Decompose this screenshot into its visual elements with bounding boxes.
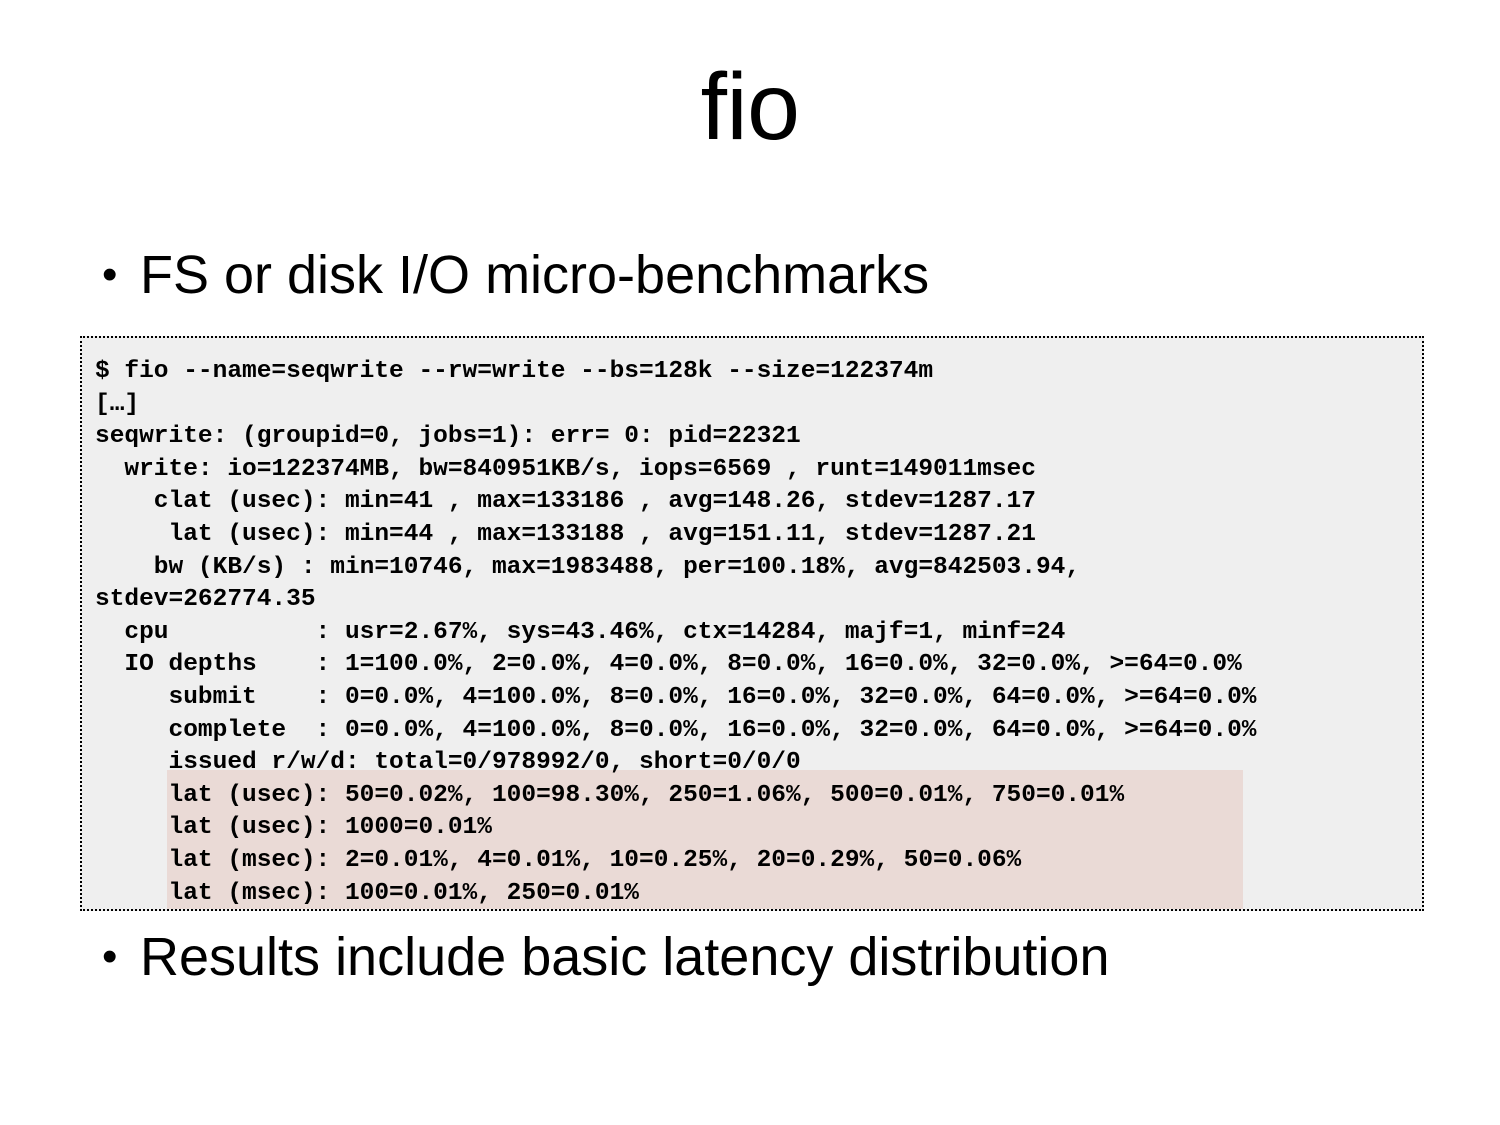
terminal-line: issued r/w/d: total=0/978992/0, short=0/… [82, 747, 1422, 780]
terminal-line: lat (msec): 2=0.01%, 4=0.01%, 10=0.25%, … [82, 845, 1422, 878]
terminal-line: lat (usec): 50=0.02%, 100=98.30%, 250=1.… [82, 780, 1422, 813]
terminal-line: lat (usec): 1000=0.01% [82, 812, 1422, 845]
terminal-output-box: $ fio --name=seqwrite --rw=write --bs=12… [80, 336, 1424, 911]
page-title: fio [0, 58, 1500, 158]
terminal-line: $ fio --name=seqwrite --rw=write --bs=12… [82, 356, 1422, 389]
slide: fio • FS or disk I/O micro-benchmarks $ … [0, 0, 1500, 1125]
terminal-line: stdev=262774.35 [82, 584, 1422, 617]
terminal-line: lat (usec): min=44 , max=133188 , avg=15… [82, 519, 1422, 552]
terminal-line: submit : 0=0.0%, 4=100.0%, 8=0.0%, 16=0.… [82, 682, 1422, 715]
terminal-line: write: io=122374MB, bw=840951KB/s, iops=… [82, 454, 1422, 487]
terminal-line: seqwrite: (groupid=0, jobs=1): err= 0: p… [82, 421, 1422, 454]
terminal-line: clat (usec): min=41 , max=133186 , avg=1… [82, 486, 1422, 519]
terminal-line: lat (msec): 100=0.01%, 250=0.01% [82, 878, 1422, 911]
terminal-line: cpu : usr=2.67%, sys=43.46%, ctx=14284, … [82, 617, 1422, 650]
terminal-line: […] [82, 389, 1422, 422]
terminal-line: IO depths : 1=100.0%, 2=0.0%, 4=0.0%, 8=… [82, 649, 1422, 682]
bullet-dot-icon: • [88, 246, 140, 304]
terminal-output-lines: $ fio --name=seqwrite --rw=write --bs=12… [82, 338, 1422, 910]
terminal-line: bw (KB/s) : min=10746, max=1983488, per=… [82, 552, 1422, 585]
terminal-line: complete : 0=0.0%, 4=100.0%, 8=0.0%, 16=… [82, 715, 1422, 748]
bullet-dot-icon: • [88, 928, 140, 986]
bullet-item-1-label: FS or disk I/O micro-benchmarks [140, 246, 929, 304]
bullet-item-1: • FS or disk I/O micro-benchmarks [88, 246, 929, 304]
bullet-item-2-label: Results include basic latency distributi… [140, 928, 1110, 986]
bullet-item-2: • Results include basic latency distribu… [88, 928, 1110, 986]
